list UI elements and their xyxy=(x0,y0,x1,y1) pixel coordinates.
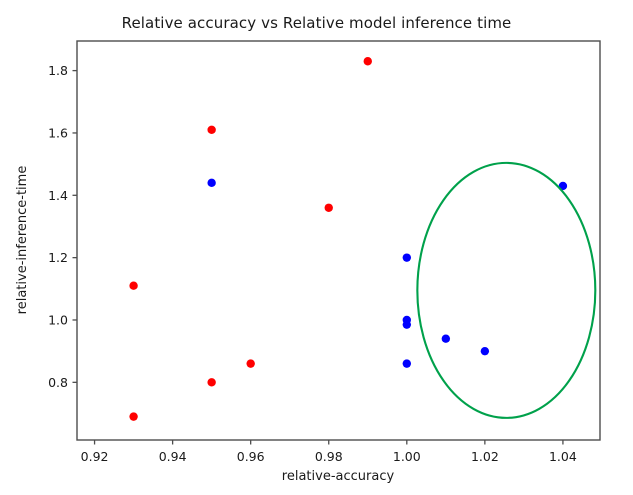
x-tick-label: 1.02 xyxy=(471,449,499,464)
data-point xyxy=(207,179,215,187)
data-point xyxy=(364,57,372,65)
y-tick-label: 1.2 xyxy=(48,250,68,265)
scatter-plot: 0.920.940.960.981.001.021.040.81.01.21.4… xyxy=(0,0,633,495)
x-tick-label: 1.00 xyxy=(393,449,421,464)
x-tick-label: 0.98 xyxy=(315,449,343,464)
data-point xyxy=(442,334,450,342)
data-point xyxy=(481,347,489,355)
plot-area-background xyxy=(77,41,600,440)
x-tick-label: 0.92 xyxy=(81,449,109,464)
x-tick-label: 0.96 xyxy=(237,449,265,464)
data-point xyxy=(207,126,215,134)
chart-figure: Relative accuracy vs Relative model infe… xyxy=(0,0,633,495)
x-tick-label: 1.04 xyxy=(549,449,577,464)
y-tick-label: 0.8 xyxy=(48,375,68,390)
data-point xyxy=(129,412,137,420)
data-point xyxy=(403,359,411,367)
y-tick-label: 1.6 xyxy=(48,125,68,140)
x-tick-label: 0.94 xyxy=(159,449,187,464)
y-tick-label: 1.8 xyxy=(48,63,68,78)
y-tick-label: 1.4 xyxy=(48,188,68,203)
data-point xyxy=(403,253,411,261)
data-point xyxy=(403,320,411,328)
x-axis-label: relative-accuracy xyxy=(282,469,395,484)
data-point xyxy=(207,378,215,386)
data-point xyxy=(325,204,333,212)
data-point xyxy=(129,281,137,289)
data-point xyxy=(246,359,254,367)
y-axis-label: relative-inference-time xyxy=(15,166,30,315)
y-tick-label: 1.0 xyxy=(48,312,68,327)
